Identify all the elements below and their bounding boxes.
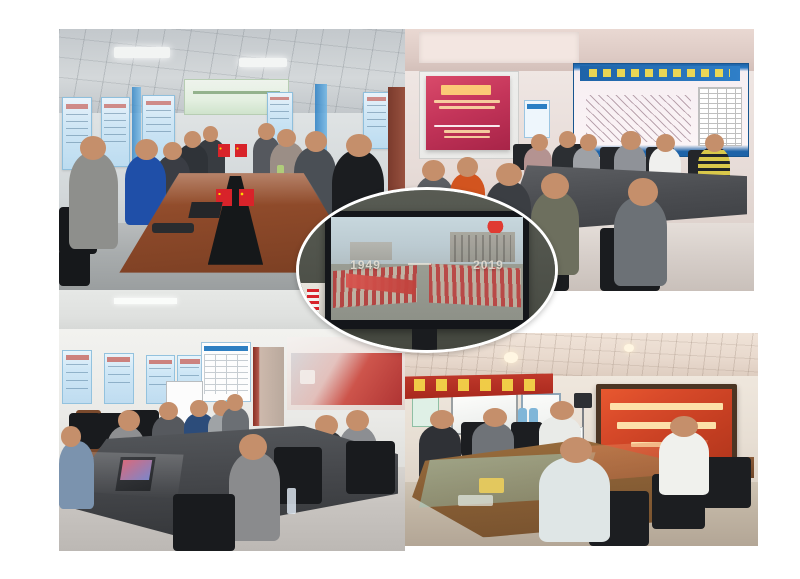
- chinese-flag-icon: [218, 144, 230, 157]
- drink-bottle: [287, 488, 295, 514]
- person-head: [190, 400, 207, 417]
- wall-notice: [524, 100, 550, 139]
- tv-stand: [412, 329, 438, 350]
- person-head: [239, 434, 267, 460]
- laptop: [115, 457, 155, 491]
- chinese-flag-icon: [307, 289, 320, 331]
- slide-subtitle: [434, 100, 499, 104]
- slide-footer: [444, 130, 489, 133]
- table-items: [458, 495, 493, 506]
- overlay-year-start: 1949: [350, 258, 381, 272]
- schedule-chart: [201, 342, 251, 401]
- ceiling-light: [114, 47, 169, 57]
- ceiling-light: [239, 58, 287, 67]
- person: [539, 457, 610, 542]
- speaker: [574, 393, 592, 408]
- person-head: [203, 126, 219, 142]
- person-head: [430, 410, 455, 429]
- overlay-year-end: 2019: [473, 258, 504, 272]
- chinese-flag-icon: [235, 144, 247, 157]
- ceiling-downlight: [504, 352, 518, 363]
- office-chair: [274, 447, 322, 504]
- person-head: [559, 131, 576, 148]
- notice-board: [104, 353, 134, 405]
- person-head: [531, 134, 548, 151]
- person-head: [163, 142, 182, 160]
- slide-footer: [444, 136, 489, 139]
- slide-subtitle: [439, 106, 494, 109]
- office-chair: [59, 249, 90, 286]
- person-head: [496, 163, 522, 187]
- person-head: [277, 129, 296, 147]
- inset-photo-oval[interactable]: 1949 2019: [296, 187, 558, 353]
- projected-slide: [291, 353, 402, 405]
- person-head: [80, 136, 106, 160]
- notice-board: [62, 350, 92, 404]
- broadcast-logo-icon: [485, 221, 512, 232]
- slide-divider: [434, 125, 499, 127]
- office-chair: [702, 457, 751, 508]
- screen-text-line: [617, 422, 716, 428]
- person-head: [118, 410, 140, 431]
- doorway: [253, 347, 284, 425]
- person: [229, 452, 281, 541]
- person-head: [483, 408, 508, 427]
- person-head: [184, 131, 201, 148]
- table-items: [479, 478, 504, 493]
- ceiling-light: [114, 298, 176, 305]
- overlay-separator: [408, 263, 431, 265]
- presentation-slide: [426, 76, 510, 149]
- person: [659, 431, 708, 495]
- tv-screen: 1949 2019: [331, 217, 523, 319]
- office-chair: [346, 441, 394, 493]
- person: [614, 197, 666, 286]
- person-head: [135, 139, 157, 160]
- person: [69, 152, 117, 249]
- table-items: [152, 223, 194, 233]
- slide-headline: [441, 85, 491, 95]
- screen-text-line: [610, 403, 723, 409]
- person-head: [61, 426, 82, 447]
- person-head: [422, 160, 445, 181]
- photo-collage: 1949 2019: [0, 0, 800, 579]
- photo-bottom-right[interactable]: [405, 333, 758, 546]
- ceiling-recess: [419, 32, 580, 63]
- chinese-flag-icon: [239, 189, 255, 206]
- wall-chart-title: [580, 66, 741, 82]
- person-head: [560, 437, 592, 463]
- laptop: [189, 202, 223, 218]
- door: [388, 87, 405, 205]
- scene-orange-projection-meeting: [405, 333, 758, 546]
- person-head: [580, 134, 597, 151]
- person-head: [346, 410, 368, 431]
- office-chair: [173, 494, 235, 551]
- person-head: [305, 131, 327, 152]
- person-head: [621, 131, 640, 149]
- person-head: [227, 394, 244, 410]
- person: [59, 441, 94, 509]
- person-head: [628, 178, 658, 206]
